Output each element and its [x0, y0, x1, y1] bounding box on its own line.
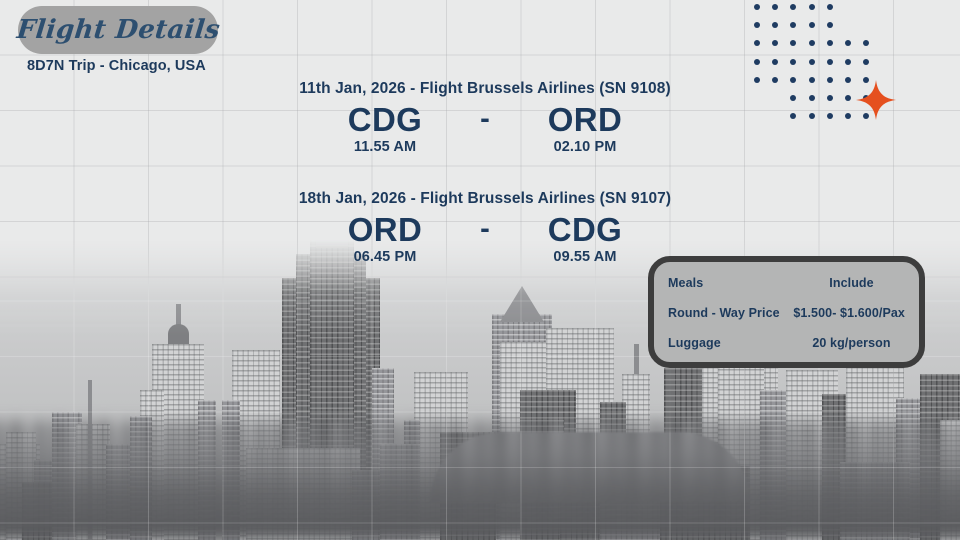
info-label: Meals — [668, 276, 798, 290]
pattern-dot — [863, 40, 869, 46]
origin-airport-code: ORD — [305, 212, 465, 248]
origin-departure-time: 06.45 PM — [305, 249, 465, 265]
pattern-dot — [754, 40, 760, 46]
flight-block-outbound: 11th Jan, 2026 - Flight Brussels Airline… — [275, 80, 695, 155]
pattern-dot — [809, 22, 815, 28]
pattern-dot — [845, 77, 851, 83]
destination-leg: ORD 02.10 PM — [505, 102, 665, 155]
pattern-dot — [845, 59, 851, 65]
info-value: Include — [798, 276, 905, 290]
pattern-dot — [790, 40, 796, 46]
pattern-dot — [827, 95, 833, 101]
pattern-dot — [790, 22, 796, 28]
info-value: 20 kg/person — [798, 336, 905, 350]
info-value: $1.500- $1.600/Pax — [793, 306, 905, 320]
destination-arrival-time: 02.10 PM — [505, 139, 665, 155]
destination-arrival-time: 09.55 AM — [505, 249, 665, 265]
trip-subtitle: 8D7N Trip - Chicago, USA — [27, 58, 206, 74]
pattern-dot — [790, 59, 796, 65]
pattern-dot — [772, 22, 778, 28]
info-label: Round - Way Price — [668, 306, 793, 320]
info-label: Luggage — [668, 336, 798, 350]
pattern-dot — [809, 95, 815, 101]
pattern-dot — [754, 77, 760, 83]
destination-airport-code: CDG — [505, 212, 665, 248]
info-row-luggage: Luggage 20 kg/person — [668, 336, 905, 350]
info-row-price: Round - Way Price $1.500- $1.600/Pax — [668, 306, 905, 320]
route-separator: - — [465, 102, 505, 137]
flight-block-return: 18th Jan, 2026 - Flight Brussels Airline… — [275, 190, 695, 265]
pattern-dot — [809, 113, 815, 119]
flight-heading: 11th Jan, 2026 - Flight Brussels Airline… — [275, 80, 695, 98]
origin-leg: ORD 06.45 PM — [305, 212, 465, 265]
pattern-dot — [772, 77, 778, 83]
origin-leg: CDG 11.55 AM — [305, 102, 465, 155]
pattern-dot — [809, 4, 815, 10]
pattern-dot — [772, 59, 778, 65]
pattern-dot — [809, 77, 815, 83]
slide-canvas: Flight Details 8D7N Trip - Chicago, USA … — [0, 0, 960, 540]
pattern-dot — [827, 113, 833, 119]
pattern-dot — [790, 77, 796, 83]
flight-inclusions-card: Meals Include Round - Way Price $1.500- … — [648, 256, 925, 368]
pattern-dot — [790, 4, 796, 10]
route-separator: - — [465, 212, 505, 247]
flight-route: ORD 06.45 PM - CDG 09.55 AM — [275, 212, 695, 265]
pattern-dot — [772, 40, 778, 46]
origin-departure-time: 11.55 AM — [305, 139, 465, 155]
flight-details-title-pill: Flight Details — [18, 6, 218, 54]
flight-heading: 18th Jan, 2026 - Flight Brussels Airline… — [275, 190, 695, 208]
pattern-dot — [845, 95, 851, 101]
pattern-dot — [809, 40, 815, 46]
destination-airport-code: ORD — [505, 102, 665, 138]
pattern-dot — [809, 59, 815, 65]
page-title: Flight Details — [15, 15, 221, 45]
pattern-dot — [754, 4, 760, 10]
pattern-dot — [863, 59, 869, 65]
pattern-dot — [827, 59, 833, 65]
destination-leg: CDG 09.55 AM — [505, 212, 665, 265]
pattern-dot — [827, 40, 833, 46]
pattern-dot — [754, 59, 760, 65]
pattern-dot — [754, 22, 760, 28]
pattern-dot — [790, 95, 796, 101]
pattern-dot — [845, 40, 851, 46]
pattern-dot — [827, 22, 833, 28]
pattern-dot — [827, 77, 833, 83]
pattern-dot — [827, 4, 833, 10]
pattern-dot — [772, 4, 778, 10]
flight-route: CDG 11.55 AM - ORD 02.10 PM — [275, 102, 695, 155]
info-row-meals: Meals Include — [668, 276, 905, 290]
origin-airport-code: CDG — [305, 102, 465, 138]
four-point-star-icon — [854, 78, 898, 122]
